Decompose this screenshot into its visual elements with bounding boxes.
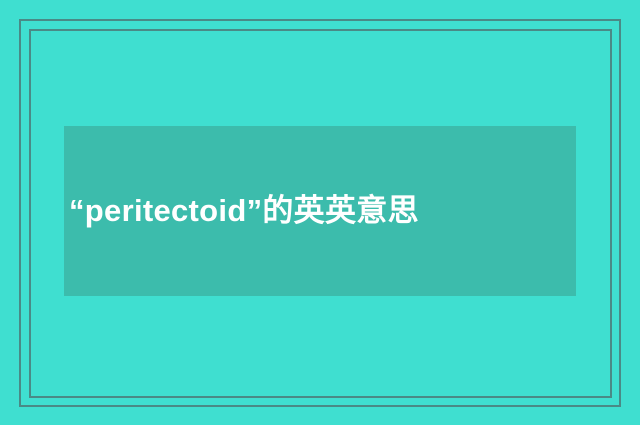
poster-canvas: “peritectoid”的英英意思 bbox=[0, 0, 640, 425]
poster-title: “peritectoid”的英英意思 bbox=[64, 185, 436, 236]
title-banner: “peritectoid”的英英意思 bbox=[64, 126, 576, 296]
